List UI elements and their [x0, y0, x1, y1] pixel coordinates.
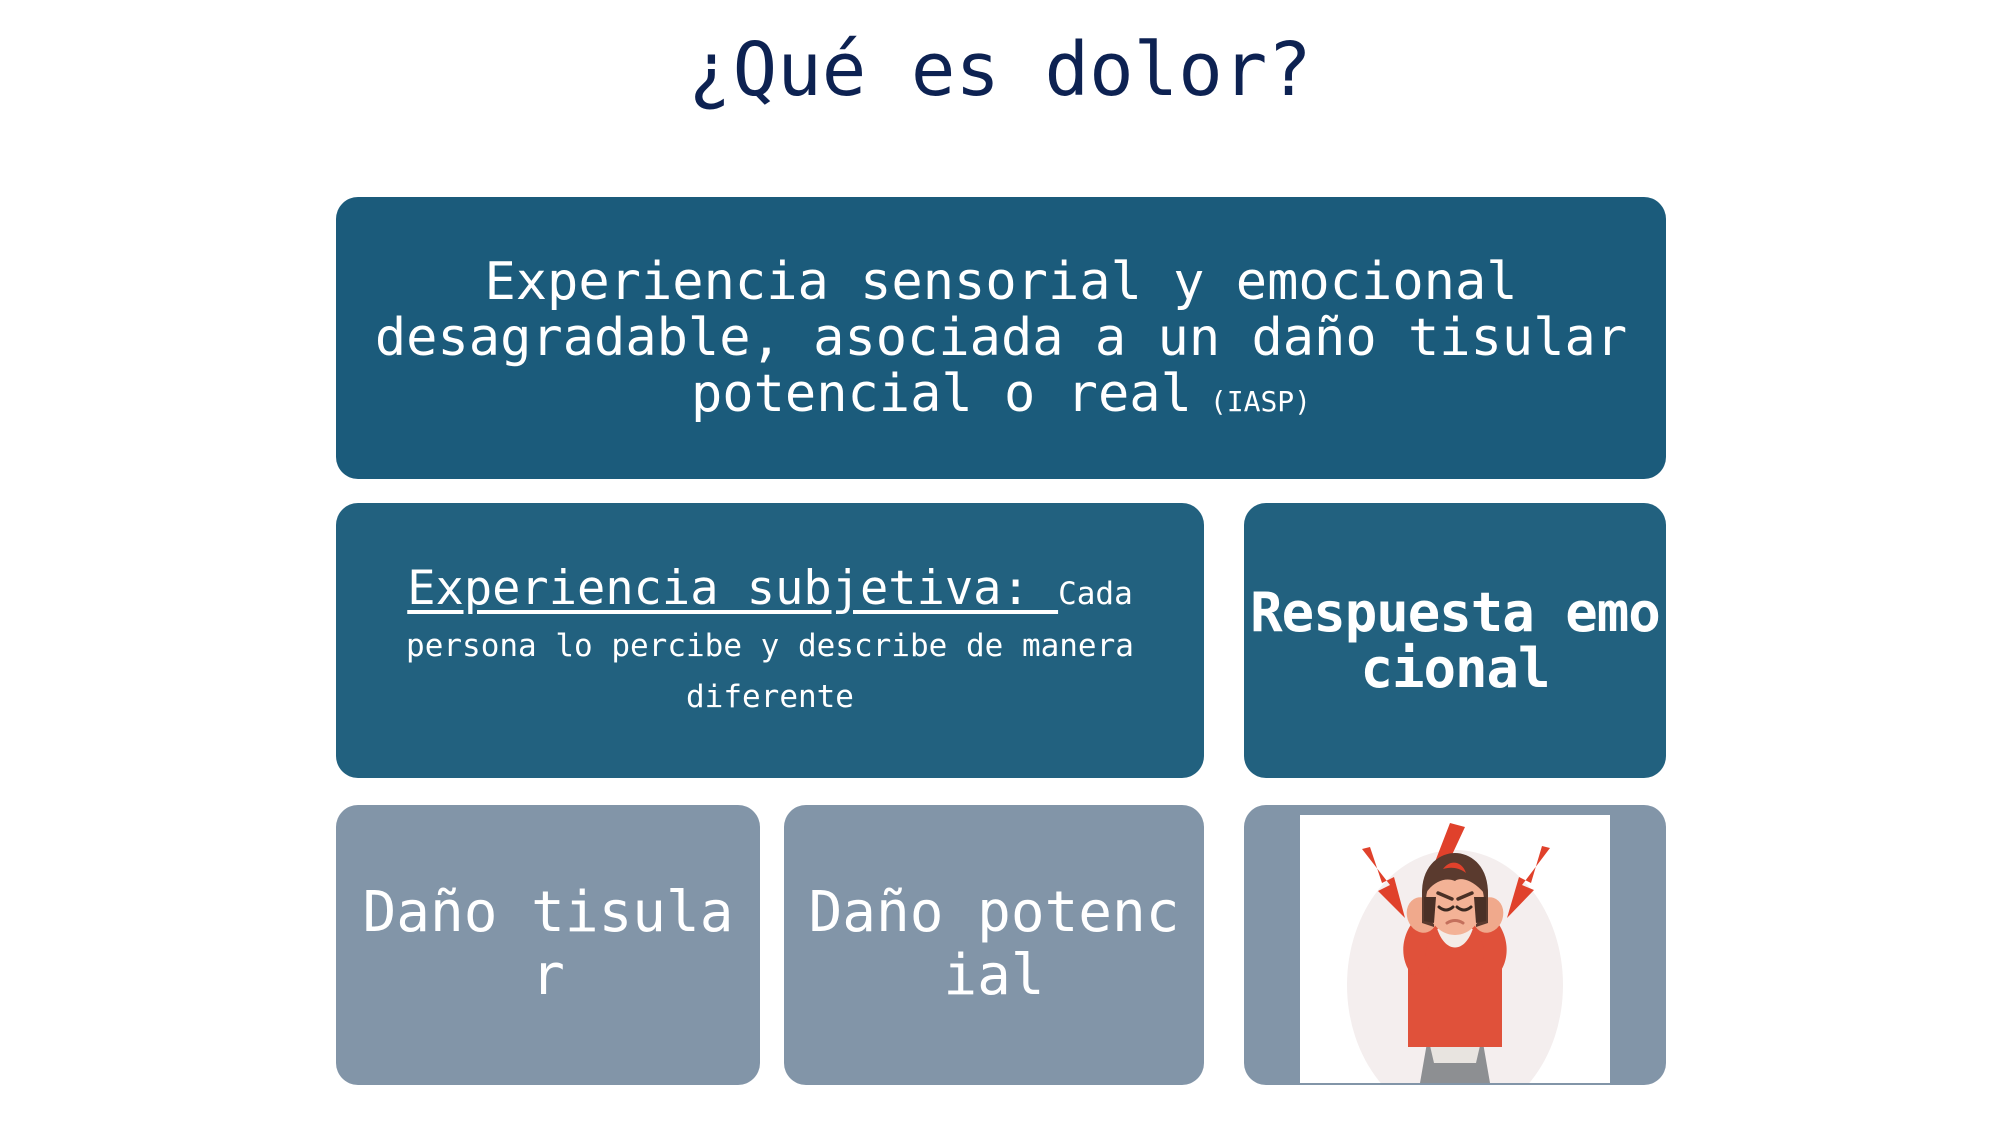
- illustration-card: [1244, 805, 1666, 1085]
- emotional-response-label: Respuesta emocional: [1250, 585, 1660, 695]
- page-title: ¿Qué es dolor?: [0, 30, 2000, 111]
- definition-text: Experiencia sensorial y emocional desagr…: [375, 252, 1627, 424]
- potential-damage-card: Daño potencial: [784, 805, 1204, 1085]
- potential-damage-label: Daño potencial: [794, 882, 1194, 1007]
- definition-card: Experiencia sensorial y emocional desagr…: [336, 197, 1666, 479]
- tissue-damage-label: Daño tisular: [346, 882, 750, 1007]
- tissue-damage-card: Daño tisular: [336, 805, 760, 1085]
- subjective-experience-card: Experiencia subjetiva: Cada persona lo p…: [336, 503, 1204, 778]
- definition-text-wrap: Experiencia sensorial y emocional desagr…: [358, 254, 1644, 422]
- subjective-text-wrap: Experiencia subjetiva: Cada persona lo p…: [350, 563, 1190, 718]
- subjective-heading: Experiencia subjetiva:: [407, 561, 1058, 616]
- person-headache-illustration-icon: [1300, 815, 1610, 1083]
- emotional-response-card: Respuesta emocional: [1244, 503, 1666, 778]
- illustration-frame: [1300, 815, 1610, 1083]
- definition-source: (IASP): [1192, 385, 1311, 418]
